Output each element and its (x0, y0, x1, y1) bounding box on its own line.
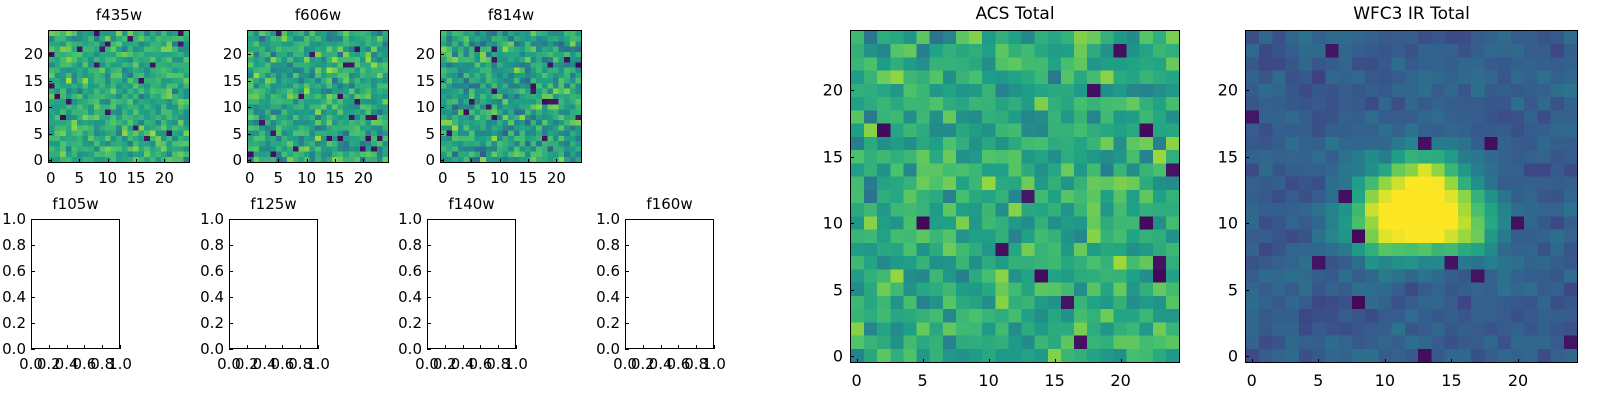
x-tick-label: 1.0 (108, 355, 132, 373)
panel-f160w[interactable]: f160w 0.00.20.40.60.81.00.00.20.40.60.81… (625, 219, 714, 349)
heatmap-f435w (49, 31, 189, 162)
panel-title-f125w: f125w (229, 195, 318, 213)
x-tick-mark (1518, 359, 1519, 363)
panel-title-f814w: f814w (440, 6, 582, 24)
x-tick-mark (120, 345, 121, 349)
y-tick-mark (1245, 223, 1249, 224)
x-tick-label: 5 (273, 169, 283, 187)
y-tick-mark (850, 157, 854, 158)
y-tick-mark (1245, 356, 1249, 357)
x-tick-mark (500, 159, 501, 163)
panel-f814w[interactable]: f814w 0510152005101520 (440, 30, 582, 163)
x-tick-label: 5 (918, 371, 928, 390)
x-tick-mark (335, 159, 336, 163)
x-tick-mark (445, 345, 446, 349)
y-tick-label: 0.6 (596, 262, 620, 280)
y-tick-mark (850, 356, 854, 357)
y-tick-mark (48, 81, 52, 82)
x-tick-label: 20 (1110, 371, 1130, 390)
x-tick-mark (471, 159, 472, 163)
y-tick-mark (48, 134, 52, 135)
y-tick-mark (427, 297, 431, 298)
y-tick-label: 15 (223, 72, 242, 90)
y-tick-label: 0.2 (596, 314, 620, 332)
y-tick-mark (247, 134, 251, 135)
y-tick-mark (440, 81, 444, 82)
x-tick-mark (528, 159, 529, 163)
x-tick-label: 15 (1044, 371, 1064, 390)
x-tick-label: 5 (74, 169, 84, 187)
y-tick-label: 20 (416, 45, 435, 63)
x-tick-label: 15 (1441, 371, 1461, 390)
x-tick-label: 0 (245, 169, 255, 187)
y-tick-mark (229, 245, 233, 246)
x-tick-mark (300, 345, 301, 349)
y-tick-mark (440, 54, 444, 55)
y-tick-label: 0.8 (398, 236, 422, 254)
x-tick-label: 10 (297, 169, 316, 187)
y-tick-mark (247, 54, 251, 55)
x-tick-mark (1318, 359, 1319, 363)
x-tick-mark (102, 345, 103, 349)
x-tick-label: 0 (46, 169, 56, 187)
y-tick-mark (31, 245, 35, 246)
panel-title-f140w: f140w (427, 195, 516, 213)
y-tick-mark (229, 349, 233, 350)
x-tick-label: 20 (1508, 371, 1528, 390)
figure-canvas: f435w 0510152005101520 f606w 05101520051… (0, 0, 1600, 400)
y-tick-label: 5 (33, 125, 43, 143)
y-tick-label: 0 (1228, 347, 1238, 366)
y-tick-label: 5 (1228, 280, 1238, 299)
y-tick-label: 10 (823, 214, 843, 233)
y-tick-label: 1.0 (200, 210, 224, 228)
y-tick-label: 10 (416, 98, 435, 116)
x-tick-mark (480, 345, 481, 349)
y-tick-label: 0.0 (200, 340, 224, 358)
y-tick-label: 15 (24, 72, 43, 90)
x-tick-mark (463, 345, 464, 349)
x-tick-mark (84, 345, 85, 349)
x-tick-mark (164, 159, 165, 163)
x-tick-label: 5 (466, 169, 476, 187)
y-tick-label: 0 (833, 347, 843, 366)
panel-title-wfc3-ir-total: WFC3 IR Total (1245, 4, 1578, 24)
y-tick-mark (427, 245, 431, 246)
y-tick-label: 0.0 (398, 340, 422, 358)
x-tick-mark (661, 345, 662, 349)
y-tick-mark (247, 160, 251, 161)
y-tick-mark (48, 54, 52, 55)
x-tick-mark (247, 345, 248, 349)
panel-wfc3-ir-total[interactable]: WFC3 IR Total 0510152005101520 (1245, 30, 1578, 363)
heatmap-f606w (248, 31, 388, 162)
y-tick-label: 0.0 (596, 340, 620, 358)
panel-f435w[interactable]: f435w 0510152005101520 (48, 30, 190, 163)
y-tick-label: 0.0 (2, 340, 26, 358)
x-tick-mark (1451, 359, 1452, 363)
x-tick-label: 0 (438, 169, 448, 187)
heatmap-f814w (441, 31, 581, 162)
x-tick-mark (136, 159, 137, 163)
y-tick-mark (850, 90, 854, 91)
x-tick-label: 15 (325, 169, 344, 187)
x-tick-mark (989, 359, 990, 363)
x-tick-mark (857, 359, 858, 363)
x-tick-label: 15 (126, 169, 145, 187)
y-tick-mark (247, 81, 251, 82)
axes-f606w[interactable] (247, 30, 389, 163)
y-tick-mark (625, 297, 629, 298)
y-tick-label: 15 (823, 147, 843, 166)
y-tick-label: 0 (425, 151, 435, 169)
x-tick-mark (498, 345, 499, 349)
y-tick-mark (850, 223, 854, 224)
y-tick-mark (31, 219, 35, 220)
axes-wfc3-ir-total[interactable] (1245, 30, 1578, 363)
x-tick-label: 1.0 (306, 355, 330, 373)
y-tick-label: 0.2 (200, 314, 224, 332)
panel-title-f105w: f105w (31, 195, 120, 213)
x-tick-label: 20 (547, 169, 566, 187)
y-tick-label: 0.6 (398, 262, 422, 280)
x-tick-mark (714, 345, 715, 349)
y-tick-mark (31, 349, 35, 350)
heatmap-acs-total (851, 31, 1179, 362)
y-tick-label: 0.4 (2, 288, 26, 306)
y-tick-label: 0.4 (398, 288, 422, 306)
panel-title-acs-total: ACS Total (850, 4, 1180, 24)
y-tick-label: 0.6 (2, 262, 26, 280)
y-tick-mark (625, 219, 629, 220)
y-tick-mark (427, 349, 431, 350)
y-tick-label: 0.2 (398, 314, 422, 332)
y-tick-mark (850, 290, 854, 291)
axes-f814w[interactable] (440, 30, 582, 163)
y-tick-mark (48, 160, 52, 161)
panel-acs-total[interactable]: ACS Total 0510152005101520 (850, 30, 1180, 363)
y-tick-mark (427, 219, 431, 220)
y-tick-mark (31, 271, 35, 272)
axes-f160w[interactable] (625, 219, 714, 349)
x-tick-label: 10 (98, 169, 117, 187)
x-tick-label: 20 (155, 169, 174, 187)
panel-f105w[interactable]: f105w 0.00.20.40.60.81.00.00.20.40.60.81… (31, 219, 120, 349)
y-tick-label: 0.4 (596, 288, 620, 306)
x-tick-mark (556, 159, 557, 163)
y-tick-mark (427, 323, 431, 324)
heatmap-wfc3-ir-total (1246, 31, 1577, 362)
y-tick-label: 5 (425, 125, 435, 143)
x-tick-mark (265, 345, 266, 349)
y-tick-mark (229, 323, 233, 324)
y-tick-mark (625, 271, 629, 272)
x-tick-label: 1.0 (504, 355, 528, 373)
axes-acs-total[interactable] (850, 30, 1180, 363)
y-tick-mark (440, 134, 444, 135)
y-tick-label: 0.8 (2, 236, 26, 254)
x-tick-mark (516, 345, 517, 349)
y-tick-mark (48, 107, 52, 108)
y-tick-mark (440, 160, 444, 161)
x-tick-mark (923, 359, 924, 363)
y-tick-label: 15 (1218, 147, 1238, 166)
y-tick-mark (625, 245, 629, 246)
y-tick-mark (31, 323, 35, 324)
y-tick-label: 0.4 (200, 288, 224, 306)
y-tick-label: 0.8 (596, 236, 620, 254)
x-tick-mark (1252, 359, 1253, 363)
x-tick-mark (696, 345, 697, 349)
y-tick-mark (247, 107, 251, 108)
y-tick-mark (31, 297, 35, 298)
x-tick-label: 15 (518, 169, 537, 187)
y-tick-label: 10 (24, 98, 43, 116)
y-tick-mark (229, 219, 233, 220)
y-tick-mark (625, 349, 629, 350)
y-tick-label: 20 (223, 45, 242, 63)
y-tick-mark (229, 297, 233, 298)
y-tick-label: 5 (833, 280, 843, 299)
y-tick-label: 20 (1218, 80, 1238, 99)
x-tick-label: 10 (978, 371, 998, 390)
x-tick-label: 0 (1247, 371, 1257, 390)
x-tick-label: 5 (1313, 371, 1323, 390)
x-tick-mark (307, 159, 308, 163)
x-tick-mark (108, 159, 109, 163)
y-tick-label: 0 (232, 151, 242, 169)
x-tick-label: 0 (852, 371, 862, 390)
x-tick-label: 1.0 (702, 355, 726, 373)
x-tick-mark (643, 345, 644, 349)
x-tick-mark (1385, 359, 1386, 363)
y-tick-label: 20 (24, 45, 43, 63)
y-tick-label: 20 (823, 80, 843, 99)
x-tick-mark (318, 345, 319, 349)
y-tick-mark (427, 271, 431, 272)
x-tick-mark (278, 159, 279, 163)
x-tick-mark (67, 345, 68, 349)
panel-title-f160w: f160w (625, 195, 714, 213)
axes-f435w[interactable] (48, 30, 190, 163)
x-tick-mark (79, 159, 80, 163)
y-tick-label: 0 (33, 151, 43, 169)
axes-f125w[interactable] (229, 219, 318, 349)
y-tick-mark (229, 271, 233, 272)
y-tick-mark (440, 107, 444, 108)
panel-f125w[interactable]: f125w 0.00.20.40.60.81.00.00.20.40.60.81… (229, 219, 318, 349)
y-tick-label: 1.0 (398, 210, 422, 228)
x-tick-mark (282, 345, 283, 349)
y-tick-mark (1245, 157, 1249, 158)
axes-f140w[interactable] (427, 219, 516, 349)
y-tick-mark (1245, 290, 1249, 291)
y-tick-label: 0.8 (200, 236, 224, 254)
x-tick-mark (678, 345, 679, 349)
y-tick-label: 10 (1218, 214, 1238, 233)
panel-f606w[interactable]: f606w 0510152005101520 (247, 30, 389, 163)
y-tick-mark (625, 323, 629, 324)
panel-title-f606w: f606w (247, 6, 389, 24)
x-tick-mark (49, 345, 50, 349)
axes-f105w[interactable] (31, 219, 120, 349)
y-tick-label: 0.6 (200, 262, 224, 280)
y-tick-label: 15 (416, 72, 435, 90)
x-tick-label: 20 (354, 169, 373, 187)
y-tick-mark (1245, 90, 1249, 91)
y-tick-label: 5 (232, 125, 242, 143)
x-tick-mark (363, 159, 364, 163)
x-tick-mark (1055, 359, 1056, 363)
y-tick-label: 10 (223, 98, 242, 116)
panel-title-f435w: f435w (48, 6, 190, 24)
y-tick-label: 1.0 (2, 210, 26, 228)
x-tick-label: 10 (490, 169, 509, 187)
y-tick-label: 1.0 (596, 210, 620, 228)
x-tick-mark (1121, 359, 1122, 363)
y-tick-label: 0.2 (2, 314, 26, 332)
panel-f140w[interactable]: f140w 0.00.20.40.60.81.00.00.20.40.60.81… (427, 219, 516, 349)
x-tick-label: 10 (1375, 371, 1395, 390)
